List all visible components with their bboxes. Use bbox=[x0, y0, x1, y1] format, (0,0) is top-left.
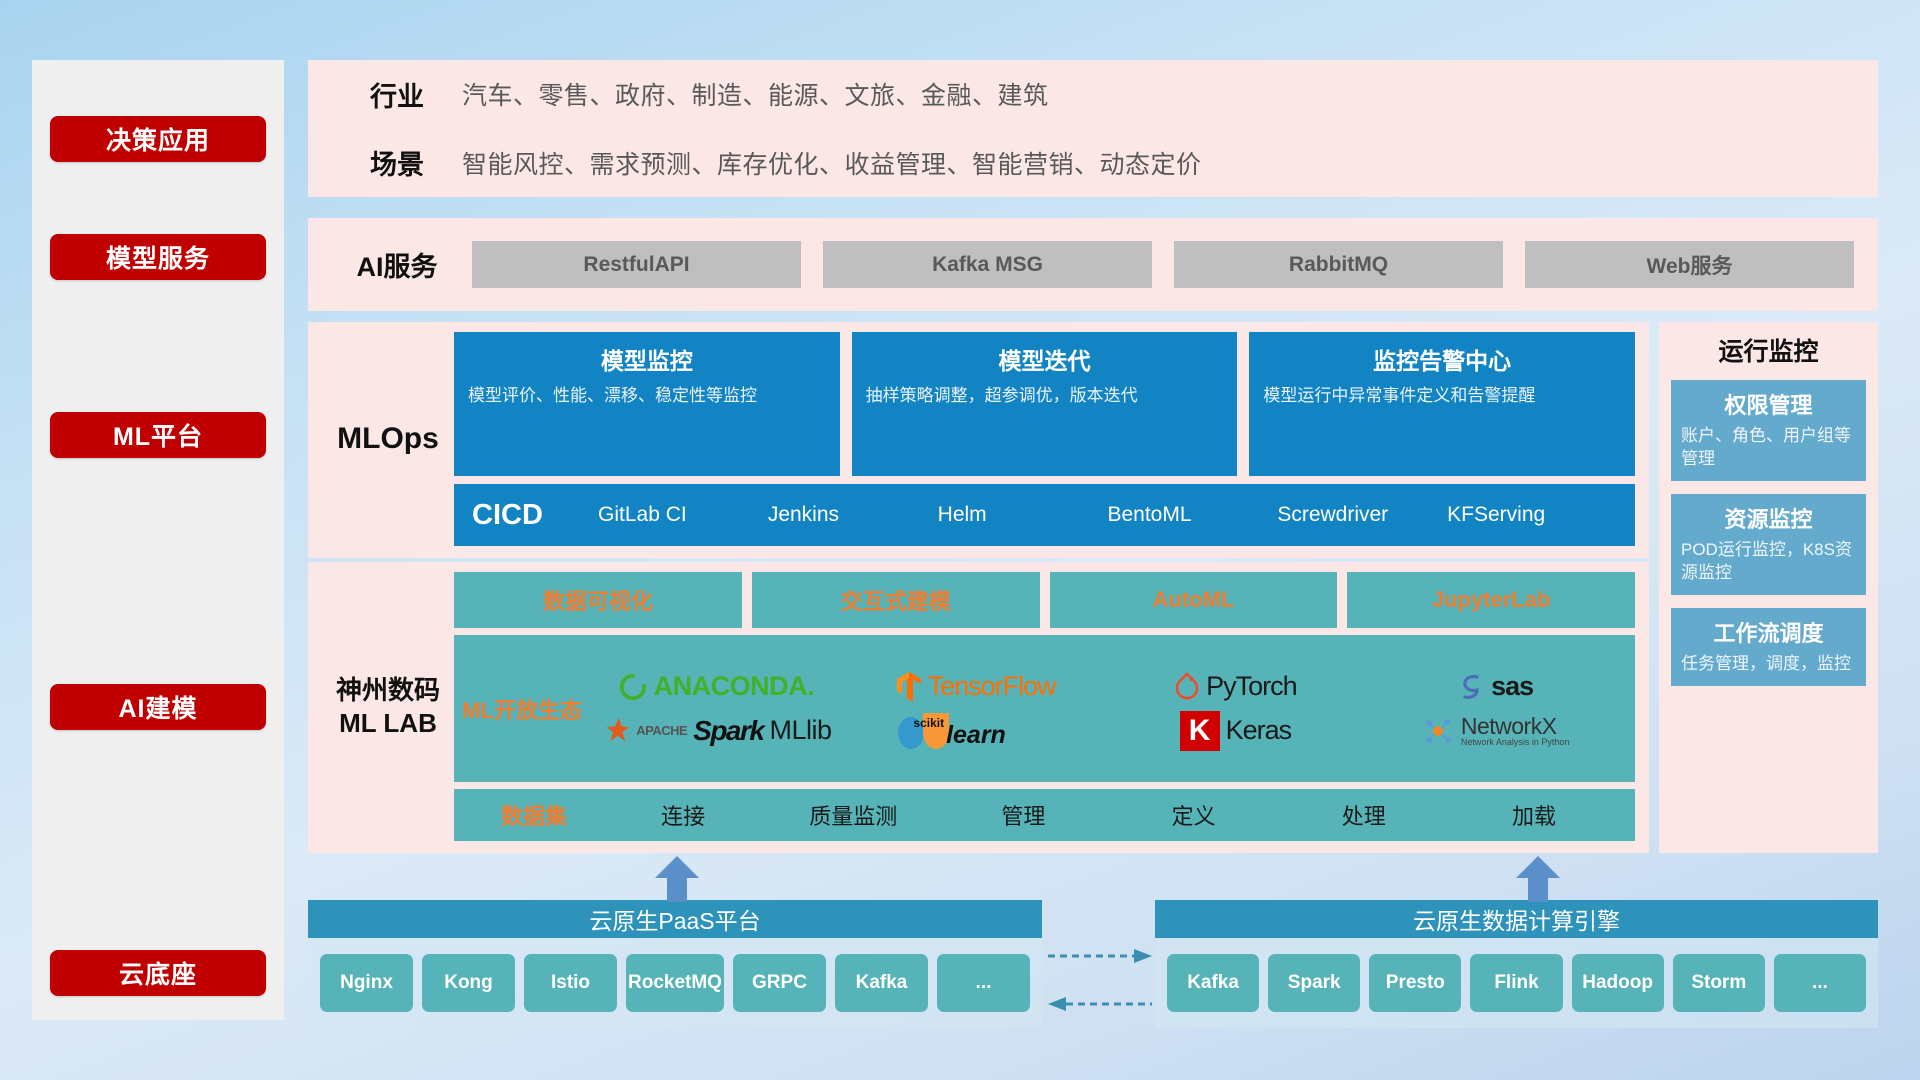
dataset-item-connect[interactable]: 连接 bbox=[598, 799, 768, 831]
card-desc: 任务管理，调度，监控 bbox=[1681, 653, 1856, 676]
anaconda-icon bbox=[618, 672, 648, 702]
paas-chip-kong[interactable]: Kong bbox=[422, 954, 515, 1012]
lab-tool-automl[interactable]: AutoML bbox=[1050, 572, 1338, 628]
engine-chip-spark[interactable]: Spark bbox=[1268, 954, 1360, 1012]
dataset-row: 数据集 连接 质量监测 管理 定义 处理 加载 bbox=[454, 789, 1635, 841]
card-desc: POD运行监控，K8S资源监控 bbox=[1681, 539, 1856, 585]
card-desc: 抽样策略调整，超参调优，版本迭代 bbox=[866, 384, 1224, 407]
cloud-native-compute-engine-title: 云原生数据计算引擎 bbox=[1155, 900, 1878, 938]
dataset-item-loading[interactable]: 加载 bbox=[1449, 799, 1619, 831]
cicd-item-gitlab-ci[interactable]: GitLab CI bbox=[598, 504, 768, 526]
pytorch-logo: PyTorch bbox=[1174, 671, 1297, 702]
service-chip-rabbitmq[interactable]: RabbitMQ bbox=[1174, 241, 1503, 288]
arrow-left-icon bbox=[1048, 996, 1152, 1012]
engine-chip-hadoop[interactable]: Hadoop bbox=[1572, 954, 1664, 1012]
cicd-item-screwdriver[interactable]: Screwdriver bbox=[1277, 504, 1447, 526]
rail-item-cloud-foundation[interactable]: 云底座 bbox=[50, 950, 266, 996]
cicd-item-kfserving[interactable]: KFServing bbox=[1447, 504, 1617, 526]
rail-item-model-services[interactable]: 模型服务 bbox=[50, 234, 266, 280]
card-title: 监控告警中心 bbox=[1263, 342, 1621, 376]
mlops-card-model-monitoring[interactable]: 模型监控 模型评价、性能、漂移、稳定性等监控 bbox=[454, 332, 840, 476]
card-desc: 模型运行中异常事件定义和告警提醒 bbox=[1263, 384, 1621, 407]
networkx-icon bbox=[1421, 714, 1455, 748]
sas-logo: sas bbox=[1457, 671, 1533, 702]
sas-icon bbox=[1457, 672, 1485, 702]
scenario-value: 智能风控、需求预测、库存优化、收益管理、智能营销、动态定价 bbox=[462, 145, 1202, 181]
sas-wordmark: sas bbox=[1491, 671, 1533, 702]
ai-services-chip-list: RestfulAPI Kafka MSG RabbitMQ Web服务 bbox=[462, 241, 1854, 288]
rail-item-ml-platform[interactable]: ML平台 bbox=[50, 412, 266, 458]
keras-icon: K bbox=[1180, 711, 1220, 751]
tensorflow-wordmark: TensorFlow bbox=[928, 671, 1056, 702]
engine-chip-more[interactable]: ... bbox=[1774, 954, 1866, 1012]
pytorch-wordmark: PyTorch bbox=[1206, 671, 1297, 702]
paas-chip-kafka[interactable]: Kafka bbox=[835, 954, 928, 1012]
anaconda-logo: ANACONDA. bbox=[618, 671, 815, 702]
ops-card-resource-monitoring[interactable]: 资源监控 POD运行监控，K8S资源监控 bbox=[1671, 494, 1866, 595]
layer-rail: 决策应用 模型服务 ML平台 AI建模 云底座 bbox=[32, 60, 284, 1020]
paas-chip-istio[interactable]: Istio bbox=[524, 954, 617, 1012]
mllib-wordmark: MLlib bbox=[769, 715, 831, 746]
cicd-item-jenkins[interactable]: Jenkins bbox=[768, 504, 938, 526]
cloud-native-paas-block: 云原生PaaS平台 Nginx Kong Istio RocketMQ GRPC… bbox=[308, 900, 1042, 1028]
keras-logo: K Keras bbox=[1180, 711, 1292, 751]
dataset-item-definition[interactable]: 定义 bbox=[1109, 799, 1279, 831]
mlops-card-model-iteration[interactable]: 模型迭代 抽样策略调整，超参调优，版本迭代 bbox=[852, 332, 1238, 476]
mlops-panel: MLOps 模型监控 模型评价、性能、漂移、稳定性等监控 模型迭代 抽样策略调整… bbox=[308, 322, 1649, 558]
paas-chip-more[interactable]: ... bbox=[937, 954, 1030, 1012]
cloud-native-paas-title: 云原生PaaS平台 bbox=[308, 900, 1042, 938]
arrow-up-icon-engine bbox=[1516, 856, 1560, 902]
ml-ecosystem-row: ML开放生态 ANACONDA. TensorF bbox=[454, 635, 1635, 782]
cloud-native-compute-engine-chip-list: Kafka Spark Presto Flink Hadoop Storm ..… bbox=[1155, 938, 1878, 1028]
card-desc: 账户、角色、用户组等管理 bbox=[1681, 425, 1856, 471]
ai-services-label: AI服务 bbox=[332, 245, 462, 284]
scenario-row: 场景 智能风控、需求预测、库存优化、收益管理、智能营销、动态定价 bbox=[308, 129, 1878, 198]
engine-chip-presto[interactable]: Presto bbox=[1369, 954, 1461, 1012]
industry-row: 行业 汽车、零售、政府、制造、能源、文旅、金融、建筑 bbox=[308, 60, 1878, 129]
anaconda-wordmark: ANACONDA. bbox=[654, 671, 815, 702]
service-chip-kafka-msg[interactable]: Kafka MSG bbox=[823, 241, 1152, 288]
runtime-monitoring-title: 运行监控 bbox=[1671, 332, 1866, 368]
engine-chip-storm[interactable]: Storm bbox=[1673, 954, 1765, 1012]
tensorflow-logo: TensorFlow bbox=[896, 671, 1056, 703]
ml-lab-label: 神州数码 ML LAB bbox=[322, 572, 454, 841]
rail-item-label: 云底座 bbox=[119, 955, 197, 991]
card-desc: 模型评价、性能、漂移、稳定性等监控 bbox=[468, 384, 826, 407]
card-title: 资源监控 bbox=[1681, 502, 1856, 534]
card-title: 工作流调度 bbox=[1681, 616, 1856, 648]
dataset-item-management[interactable]: 管理 bbox=[938, 799, 1108, 831]
scenario-label: 场景 bbox=[332, 143, 462, 182]
networkx-wordmark: NetworkX bbox=[1461, 715, 1570, 738]
ops-card-workflow-scheduling[interactable]: 工作流调度 任务管理，调度，监控 bbox=[1671, 608, 1866, 686]
cicd-bar: CICD GitLab CI Jenkins Helm BentoML Scre… bbox=[454, 484, 1635, 546]
keras-mark: K bbox=[1189, 714, 1211, 748]
spark-apache-tag: APACHE bbox=[636, 723, 687, 738]
tensorflow-icon bbox=[896, 671, 922, 703]
cloud-native-paas-chip-list: Nginx Kong Istio RocketMQ GRPC Kafka ... bbox=[308, 938, 1042, 1028]
rail-item-label: ML平台 bbox=[113, 417, 203, 453]
ml-lab-label-line2: ML LAB bbox=[339, 707, 437, 740]
runtime-monitoring-panel: 运行监控 权限管理 账户、角色、用户组等管理 资源监控 POD运行监控，K8S资… bbox=[1659, 322, 1878, 853]
cicd-item-helm[interactable]: Helm bbox=[938, 504, 1108, 526]
rail-item-label: AI建模 bbox=[118, 689, 197, 725]
ml-lab-panel: 神州数码 ML LAB 数据可视化 交互式建模 AutoML JupyterLa… bbox=[308, 562, 1649, 853]
spark-star-icon bbox=[600, 716, 630, 746]
lab-tool-jupyterlab[interactable]: JupyterLab bbox=[1347, 572, 1635, 628]
ai-services-panel: AI服务 RestfulAPI Kafka MSG RabbitMQ Web服务 bbox=[308, 218, 1878, 311]
arrow-up-icon-paas bbox=[655, 856, 699, 902]
pytorch-icon bbox=[1174, 672, 1200, 702]
mlops-card-alert-center[interactable]: 监控告警中心 模型运行中异常事件定义和告警提醒 bbox=[1249, 332, 1635, 476]
engine-chip-kafka[interactable]: Kafka bbox=[1167, 954, 1259, 1012]
service-chip-restfulapi[interactable]: RestfulAPI bbox=[472, 241, 801, 288]
paas-chip-rocketmq[interactable]: RocketMQ bbox=[626, 954, 724, 1012]
card-title: 模型迭代 bbox=[866, 342, 1224, 376]
dataset-item-quality-monitoring[interactable]: 质量监测 bbox=[768, 799, 938, 831]
mlops-card-list: 模型监控 模型评价、性能、漂移、稳定性等监控 模型迭代 抽样策略调整，超参调优，… bbox=[454, 332, 1635, 476]
keras-wordmark: Keras bbox=[1226, 715, 1292, 746]
ops-card-permission-management[interactable]: 权限管理 账户、角色、用户组等管理 bbox=[1671, 380, 1866, 481]
ml-lab-label-line1: 神州数码 bbox=[336, 674, 440, 707]
rail-item-label: 模型服务 bbox=[106, 239, 210, 275]
dataset-item-processing[interactable]: 处理 bbox=[1279, 799, 1449, 831]
lab-tool-list: 数据可视化 交互式建模 AutoML JupyterLab bbox=[454, 572, 1635, 628]
scikit-wordmark: scikit bbox=[913, 716, 944, 730]
learn-wordmark: learn bbox=[946, 721, 1006, 750]
lab-tool-interactive-modeling[interactable]: 交互式建模 bbox=[752, 572, 1040, 628]
networkx-logo: NetworkX Network Analysis in Python bbox=[1421, 714, 1570, 748]
industry-label: 行业 bbox=[332, 75, 462, 114]
cicd-label: CICD bbox=[472, 499, 592, 532]
engine-chip-flink[interactable]: Flink bbox=[1470, 954, 1562, 1012]
ml-ecosystem-label: ML开放生态 bbox=[458, 693, 586, 725]
scikit-learn-logo: scikit learn bbox=[893, 709, 1057, 753]
rail-item-ai-modeling[interactable]: AI建模 bbox=[50, 684, 266, 730]
ml-ecosystem-logo-grid: ANACONDA. TensorFlow bbox=[586, 665, 1625, 753]
cloud-native-compute-engine-block: 云原生数据计算引擎 Kafka Spark Presto Flink Hadoo… bbox=[1155, 900, 1878, 1028]
mlops-label: MLOps bbox=[322, 332, 454, 546]
rail-item-decision-apps[interactable]: 决策应用 bbox=[50, 116, 266, 162]
lab-tool-data-visualization[interactable]: 数据可视化 bbox=[454, 572, 742, 628]
paas-chip-grpc[interactable]: GRPC bbox=[733, 954, 826, 1012]
decision-apps-panel: 行业 汽车、零售、政府、制造、能源、文旅、金融、建筑 场景 智能风控、需求预测、… bbox=[308, 60, 1878, 197]
dataset-label: 数据集 bbox=[470, 799, 598, 831]
spark-wordmark: Spark bbox=[693, 715, 763, 747]
card-title: 权限管理 bbox=[1681, 388, 1856, 420]
cicd-item-bentoml[interactable]: BentoML bbox=[1107, 504, 1277, 526]
arrow-right-icon bbox=[1048, 948, 1152, 964]
networkx-tagline: Network Analysis in Python bbox=[1461, 738, 1570, 747]
card-title: 模型监控 bbox=[468, 342, 826, 376]
rail-item-label: 决策应用 bbox=[106, 121, 210, 157]
paas-chip-nginx[interactable]: Nginx bbox=[320, 954, 413, 1012]
industry-value: 汽车、零售、政府、制造、能源、文旅、金融、建筑 bbox=[462, 76, 1049, 112]
service-chip-web-service[interactable]: Web服务 bbox=[1525, 241, 1854, 288]
spark-mllib-logo: APACHE Spark MLlib bbox=[600, 715, 831, 747]
